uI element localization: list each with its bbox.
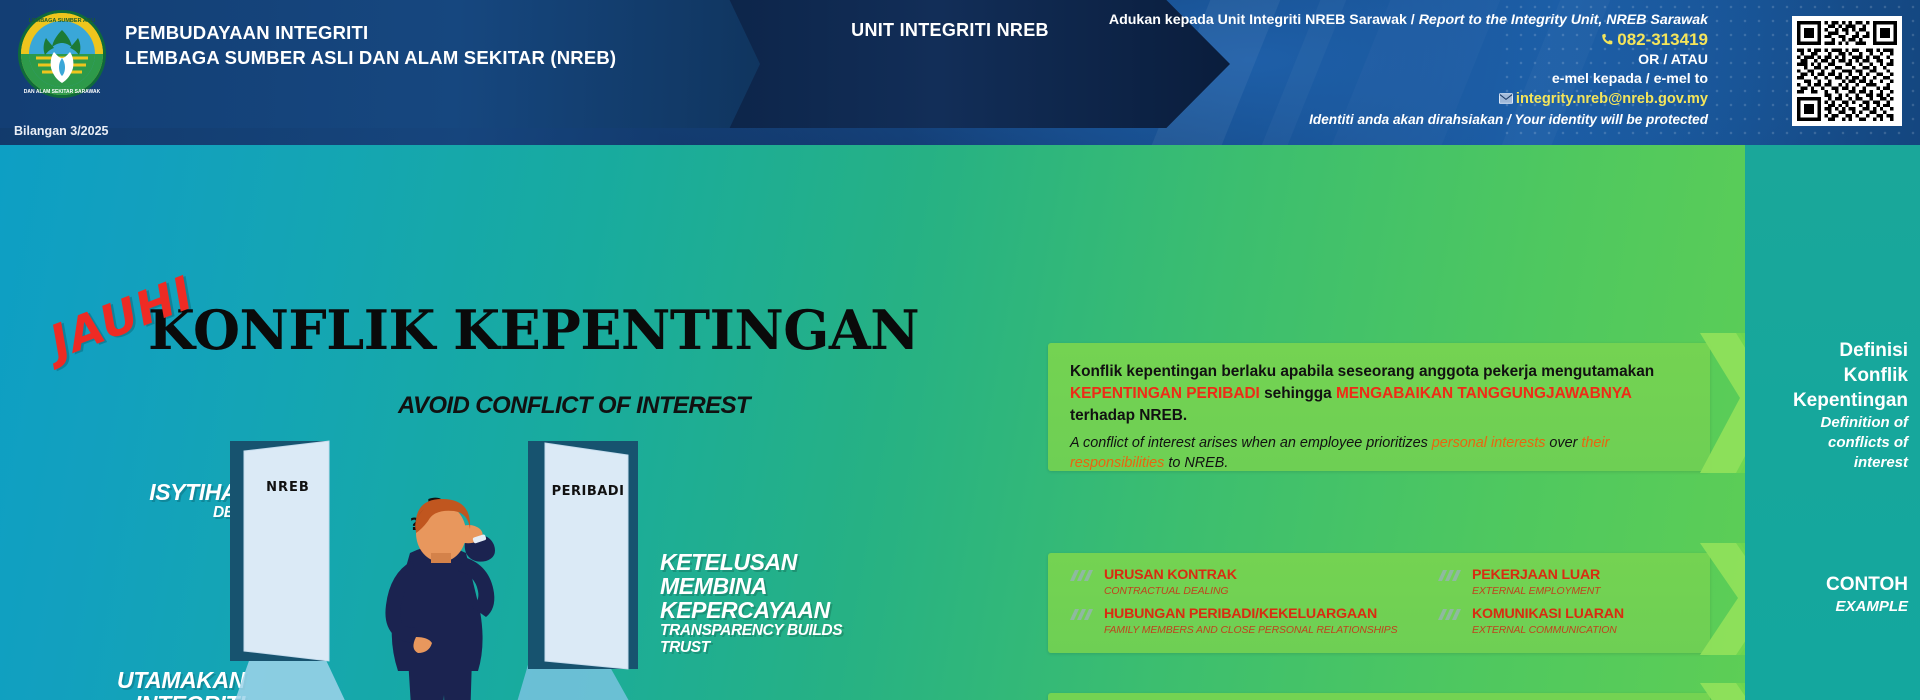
- example-title-en: EXTERNAL COMMUNICATION: [1472, 624, 1698, 637]
- tab-definisi-ms-1: Definisi: [1752, 338, 1908, 363]
- page-title: KONFLIK KEPENTINGAN: [148, 301, 919, 359]
- report-label-ms: Adukan kepada Unit Integriti NREB Sarawa…: [1109, 12, 1407, 28]
- panel-definition: Konflik kepentingan berlaku apabila sese…: [1048, 343, 1710, 471]
- privacy-note: Identiti anda akan dirahsiakan / Your id…: [988, 110, 1708, 129]
- example-item: KOMUNIKASI LUARAN EXTERNAL COMMUNICATION: [1438, 606, 1698, 637]
- definition-ms-part3: terhadap NREB.: [1070, 407, 1187, 424]
- page-header: LEMBAGA SUMBER ASLI DAN ALAM SEKITAR SAR…: [0, 0, 1920, 145]
- definition-text-ms: Konflik kepentingan berlaku apabila sese…: [1070, 361, 1688, 427]
- tab-definisi-en-1: Definition of: [1752, 413, 1908, 433]
- label-integrity-ms: UTAMAKAN INTEGRITI: [30, 668, 245, 700]
- slashes-icon: [1438, 569, 1464, 581]
- panel-action: Laporkan sebarang kemungkinan konflik ke…: [1048, 693, 1710, 700]
- report-separator: /: [1407, 12, 1419, 28]
- definition-ms-highlight2: MENGABAIKAN TANGGUNGJAWABNYA: [1336, 385, 1631, 402]
- tab-definisi-ms-3: Kepentingan: [1752, 388, 1908, 413]
- tab-definisi-en-2: conflicts of: [1752, 433, 1908, 453]
- tab-definisi-en-3: interest: [1752, 453, 1908, 473]
- svg-text:PERIBADI: PERIBADI: [552, 484, 625, 499]
- definition-en-part3: to NREB.: [1164, 455, 1228, 471]
- example-item: HUBUNGAN PERIBADI/KEKELUARGAAN FAMILY ME…: [1070, 606, 1430, 637]
- example-title-ms: HUBUNGAN PERIBADI/KEKELUARGAAN: [1104, 606, 1430, 622]
- report-line: Adukan kepada Unit Integriti NREB Sarawa…: [988, 11, 1708, 30]
- tab-contoh-ms: CONTOH: [1752, 572, 1908, 597]
- door-peribadi: PERIBADI: [528, 441, 638, 669]
- svg-text:DAN ALAM SEKITAR SARAWAK: DAN ALAM SEKITAR SARAWAK: [24, 89, 101, 95]
- org-line-1: PEMBUDAYAAN INTEGRITI: [125, 20, 616, 45]
- person-illustration: [385, 499, 495, 700]
- definition-ms-highlight1: KEPENTINGAN PERIBADI: [1070, 385, 1260, 402]
- label-transparency-en: TRANSPARENCY BUILDS TRUST: [660, 622, 890, 656]
- definition-ms-part1: Konflik kepentingan berlaku apabila sese…: [1070, 363, 1654, 380]
- definition-en-part2: over: [1545, 435, 1581, 451]
- label-transparency: KETELUSAN MEMBINA KEPERCAYAAN TRANSPAREN…: [660, 550, 890, 656]
- examples-grid: URUSAN KONTRAK CONTRACTUAL DEALING HUBUN…: [1048, 553, 1710, 653]
- tab-definisi-ms-2: Konflik: [1752, 363, 1908, 388]
- example-title-ms: PEKERJAAN LUAR: [1472, 567, 1698, 583]
- label-transparency-ms-1: KETELUSAN MEMBINA: [660, 550, 890, 598]
- svg-text:LEMBAGA SUMBER ASLI: LEMBAGA SUMBER ASLI: [29, 18, 96, 24]
- example-title-ms: KOMUNIKASI LUARAN: [1472, 606, 1698, 622]
- contact-block: Adukan kepada Unit Integriti NREB Sarawa…: [988, 11, 1708, 129]
- organization-title: PEMBUDAYAAN INTEGRITI LEMBAGA SUMBER ASL…: [125, 20, 616, 70]
- email-address: integrity.nreb@nreb.gov.my: [1516, 91, 1708, 107]
- example-item: PEKERJAAN LUAR EXTERNAL EMPLOYMENT: [1438, 567, 1698, 598]
- slashes-icon: [1070, 569, 1096, 581]
- light-beam-left: [230, 658, 405, 700]
- phone-number: 082-313419: [1617, 30, 1708, 49]
- nreb-crest-logo: LEMBAGA SUMBER ASLI DAN ALAM SEKITAR SAR…: [16, 8, 108, 100]
- or-label: OR / ATAU: [988, 51, 1708, 70]
- definition-en-part1: A conflict of interest arises when an em…: [1070, 435, 1432, 451]
- envelope-icon: [1499, 90, 1513, 110]
- email-label: e-mel kepada / e-mel to: [988, 70, 1708, 89]
- tab-contoh-en: EXAMPLE: [1752, 597, 1908, 617]
- definition-en-highlight1: personal interests: [1432, 435, 1546, 451]
- email-line[interactable]: integrity.nreb@nreb.gov.my: [988, 89, 1708, 110]
- label-transparency-ms-2: KEPERCAYAAN: [660, 598, 890, 622]
- phone-line[interactable]: 082-313419: [988, 30, 1708, 51]
- page-subtitle: AVOID CONFLICT OF INTEREST: [398, 392, 750, 420]
- door-nreb: NREB: [230, 441, 329, 661]
- qr-code[interactable]: [1792, 16, 1902, 126]
- example-title-en: FAMILY MEMBERS AND CLOSE PERSONAL RELATI…: [1104, 624, 1430, 637]
- svg-text:NREB: NREB: [266, 480, 310, 495]
- phone-icon: [1601, 31, 1614, 51]
- examples-column-right: PEKERJAAN LUAR EXTERNAL EMPLOYMENT KOMUN…: [1438, 567, 1698, 645]
- tab-definisi: Definisi Konflik Kepentingan Definition …: [1752, 338, 1920, 473]
- illustration-two-doors: NREB PERIBADI ? ? ?: [230, 433, 670, 700]
- example-title-en: CONTRACTUAL DEALING: [1104, 585, 1430, 598]
- label-integrity-first: UTAMAKAN INTEGRITI INTEGRITY FIRST: [30, 668, 245, 700]
- definition-ms-part2: sehingga: [1260, 385, 1336, 402]
- example-item: URUSAN KONTRAK CONTRACTUAL DEALING: [1070, 567, 1430, 598]
- poster-body: JAUHI KONFLIK KEPENTINGAN AVOID CONFLICT…: [0, 145, 1920, 700]
- definition-text-en: A conflict of interest arises when an em…: [1070, 433, 1688, 473]
- slashes-icon: [1070, 608, 1096, 620]
- example-title-ms: URUSAN KONTRAK: [1104, 567, 1430, 583]
- examples-column-left: URUSAN KONTRAK CONTRACTUAL DEALING HUBUN…: [1070, 567, 1430, 645]
- infographic-poster: LEMBAGA SUMBER ASLI DAN ALAM SEKITAR SAR…: [0, 0, 1920, 700]
- issue-number: Bilangan 3/2025: [14, 124, 109, 138]
- slashes-icon: [1438, 608, 1464, 620]
- tab-contoh: CONTOH EXAMPLE: [1752, 572, 1920, 617]
- example-title-en: EXTERNAL EMPLOYMENT: [1472, 585, 1698, 598]
- org-line-2: LEMBAGA SUMBER ASLI DAN ALAM SEKITAR (NR…: [125, 45, 616, 70]
- report-label-en: Report to the Integrity Unit, NREB Saraw…: [1419, 12, 1708, 28]
